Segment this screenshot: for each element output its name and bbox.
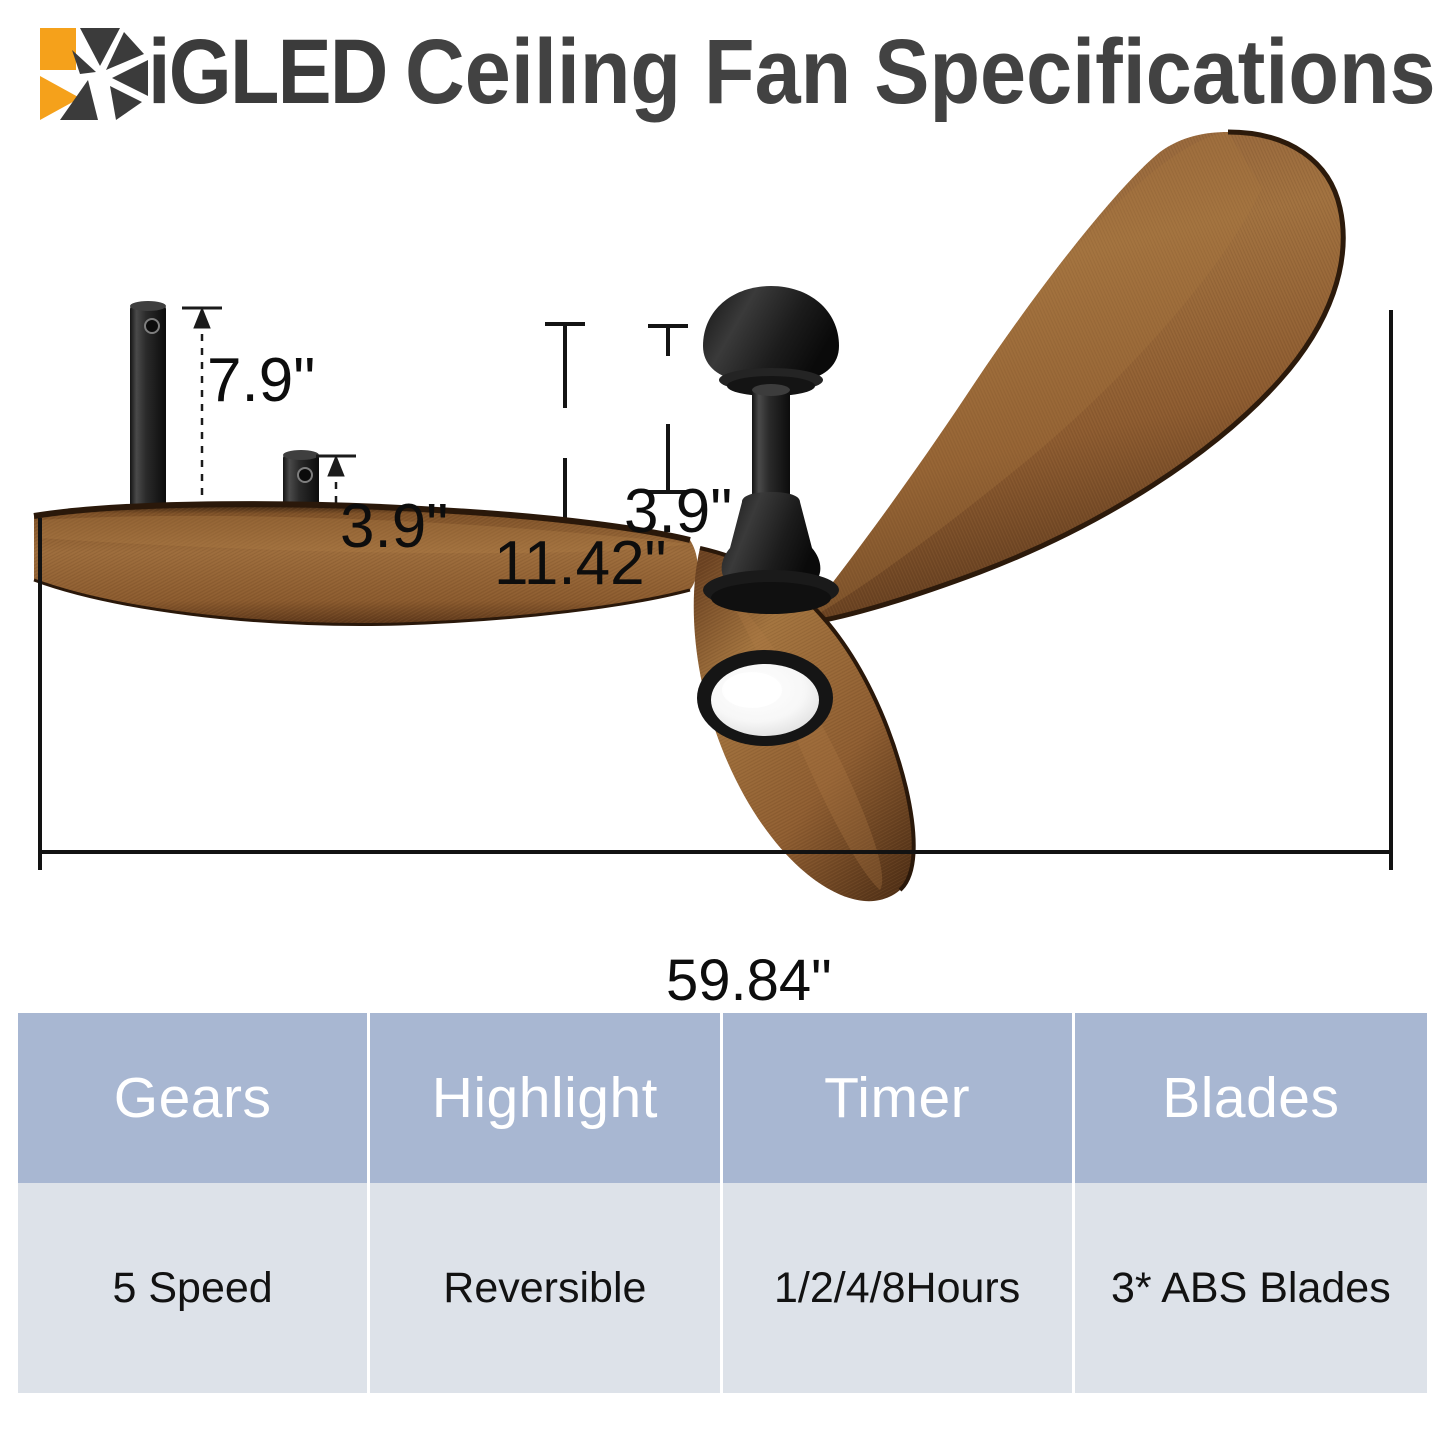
dimension-label-installed-drop: 3.9": [624, 481, 732, 543]
brand-name: iGLED: [148, 22, 387, 122]
cell-timer: 1/2/4/8Hours: [723, 1183, 1075, 1393]
ceiling-canopy: [703, 286, 839, 396]
specification-table: Gears Highlight Timer Blades 5 Speed Rev…: [18, 1013, 1427, 1393]
page-header: iGLED Ceiling Fan Specifications: [0, 0, 1445, 128]
aperture-logo-icon: [36, 26, 154, 122]
cell-highlight: Reversible: [370, 1183, 722, 1393]
column-header-highlight: Highlight: [370, 1013, 722, 1183]
column-header-timer: Timer: [723, 1013, 1075, 1183]
mounted-downrod: [752, 384, 790, 502]
dimension-label-blade-span: 59.84": [652, 952, 846, 1010]
column-header-blades: Blades: [1075, 1013, 1427, 1183]
ceiling-fan-dimension-diagram: 7.9" 3.9" 11.42" 3.9" 59.84": [0, 128, 1445, 988]
page-title: Ceiling Fan Specifications: [405, 22, 1436, 122]
cell-gears: 5 Speed: [18, 1183, 370, 1393]
cell-blades: 3* ABS Blades: [1075, 1183, 1427, 1393]
table-row: 5 Speed Reversible 1/2/4/8Hours 3* ABS B…: [18, 1183, 1427, 1393]
dimension-label-downrod-long: 7.9": [207, 350, 315, 412]
dimension-line-installed-drop: [648, 326, 688, 492]
led-light-kit: [697, 650, 833, 746]
fan-blade-upper-right: [780, 128, 1380, 648]
column-header-gears: Gears: [18, 1013, 370, 1183]
dimension-label-downrod-short: 3.9": [340, 496, 448, 558]
table-header-row: Gears Highlight Timer Blades: [18, 1013, 1427, 1183]
